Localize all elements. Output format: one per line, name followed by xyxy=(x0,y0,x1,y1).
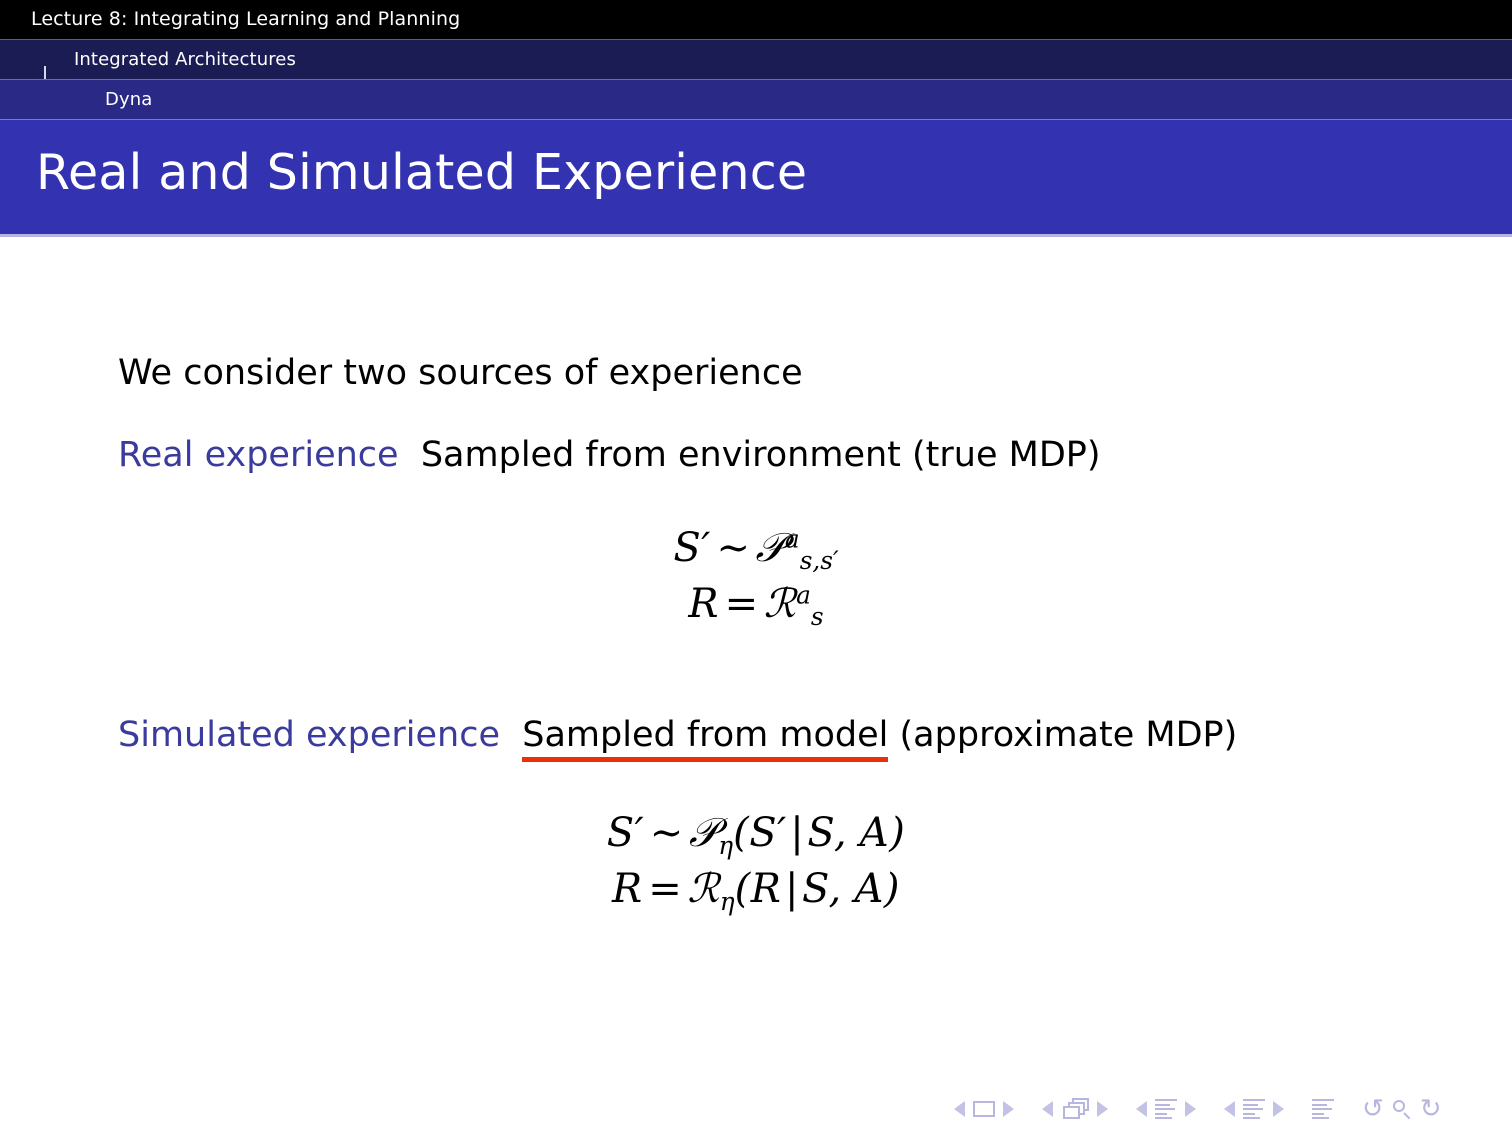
slides-glyph-icon xyxy=(1061,1098,1089,1120)
nav-group-frame[interactable] xyxy=(950,1101,1018,1117)
frame-glyph-icon xyxy=(973,1101,995,1117)
nav-group-subsection[interactable] xyxy=(1132,1099,1200,1119)
next-frame-button[interactable] xyxy=(1003,1101,1014,1117)
frame-icon[interactable] xyxy=(973,1101,995,1117)
subsection-icon[interactable] xyxy=(1155,1099,1177,1119)
triangle-left-icon xyxy=(954,1101,965,1117)
equation-real-transition: S′∼𝒫as,s′ xyxy=(0,522,1512,578)
real-experience-description: Sampled from environment (true MDP) xyxy=(421,435,1101,475)
prev-subsection-button[interactable] xyxy=(1136,1101,1147,1117)
breadcrumb-item-section[interactable]: Integrated Architectures xyxy=(74,49,296,70)
section-glyph-icon xyxy=(1243,1099,1265,1119)
search-glyph-icon xyxy=(1392,1099,1412,1119)
triangle-right-icon xyxy=(1097,1101,1108,1117)
breadcrumb-item-subsection[interactable]: Dyna xyxy=(105,89,152,110)
breadcrumb-bar-subsection[interactable]: Dyna xyxy=(0,79,1512,119)
equation-sim-transition: S′∼𝒫η(S′|S, A) xyxy=(0,807,1512,863)
simulated-experience-term: Simulated experience xyxy=(118,715,500,755)
triangle-left-icon xyxy=(1136,1101,1147,1117)
spacer xyxy=(888,715,899,755)
page-title: Real and Simulated Experience xyxy=(36,148,807,197)
nav-group-controls[interactable]: ↺ ↻ xyxy=(1358,1096,1446,1122)
nav-group-document[interactable] xyxy=(1308,1099,1338,1119)
prev-section-button[interactable] xyxy=(1224,1101,1235,1117)
simulated-experience-line: Simulated experience Sampled from model … xyxy=(118,718,1237,753)
back-icon[interactable]: ↺ xyxy=(1362,1096,1384,1122)
triangle-right-icon xyxy=(1273,1101,1284,1117)
equation-real-reward: R=ℛas xyxy=(0,578,1512,634)
equation-sim-reward: R=ℛη(R|S, A) xyxy=(0,863,1512,919)
next-subsection-button[interactable] xyxy=(1185,1101,1196,1117)
subsection-glyph-icon xyxy=(1155,1099,1177,1119)
beamer-headline: Lecture 8: Integrating Learning and Plan… xyxy=(0,0,1512,127)
slide-title-banner: Real and Simulated Experience xyxy=(0,127,1512,234)
breadcrumb-bar-lecture[interactable]: Lecture 8: Integrating Learning and Plan… xyxy=(0,0,1512,39)
simulated-experience-highlight: Sampled from model xyxy=(522,718,888,753)
simulated-experience-equations: S′∼𝒫η(S′|S, A) R=ℛη(R|S, A) xyxy=(0,807,1512,919)
beamer-navigation-symbols[interactable]: ↺ ↻ xyxy=(950,1092,1490,1126)
breadcrumb-bar-accent xyxy=(0,119,1512,127)
real-experience-term: Real experience xyxy=(118,435,399,475)
triangle-left-icon xyxy=(1042,1101,1053,1117)
next-slide-button[interactable] xyxy=(1097,1101,1108,1117)
slides-icon[interactable] xyxy=(1061,1098,1089,1120)
search-icon[interactable] xyxy=(1392,1099,1412,1119)
next-section-button[interactable] xyxy=(1273,1101,1284,1117)
prev-frame-button[interactable] xyxy=(954,1101,965,1117)
forward-icon[interactable]: ↻ xyxy=(1420,1096,1442,1122)
triangle-right-icon xyxy=(1185,1101,1196,1117)
slide-content: We consider two sources of experience Re… xyxy=(0,237,1512,1077)
intro-text: We consider two sources of experience xyxy=(118,356,803,391)
tree-connector-icon xyxy=(44,66,72,79)
document-glyph-icon xyxy=(1312,1099,1334,1119)
spacer xyxy=(500,715,522,755)
breadcrumb-bar-section[interactable]: Integrated Architectures xyxy=(0,39,1512,79)
breadcrumb-item-lecture[interactable]: Lecture 8: Integrating Learning and Plan… xyxy=(31,8,460,30)
section-icon[interactable] xyxy=(1243,1099,1265,1119)
triangle-right-icon xyxy=(1003,1101,1014,1117)
prev-slide-button[interactable] xyxy=(1042,1101,1053,1117)
nav-group-section[interactable] xyxy=(1220,1099,1288,1119)
triangle-left-icon xyxy=(1224,1101,1235,1117)
real-experience-line: Real experience Sampled from environment… xyxy=(118,438,1101,473)
spacer xyxy=(399,435,421,475)
nav-group-slides[interactable] xyxy=(1038,1098,1112,1120)
document-icon[interactable] xyxy=(1312,1099,1334,1119)
simulated-experience-description: (approximate MDP) xyxy=(900,715,1238,755)
real-experience-equations: S′∼𝒫as,s′ R=ℛas xyxy=(0,522,1512,634)
